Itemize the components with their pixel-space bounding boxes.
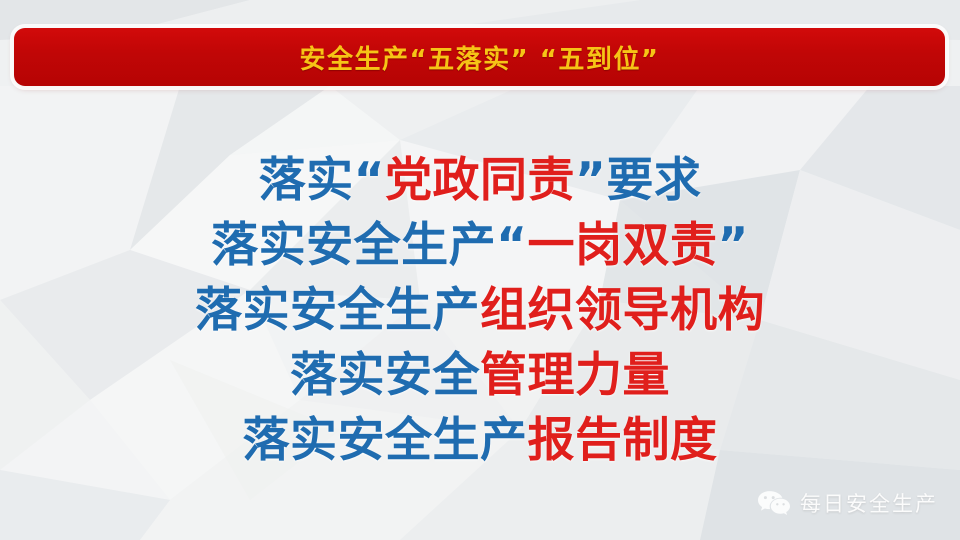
slogan-segment: 落实安全生产 [243, 413, 528, 468]
slogan-line-4: 落实安全管理力量 [0, 343, 960, 408]
slogan-segment: ”要求 [575, 153, 701, 208]
header-banner: 安全生产“五落实” “五到位” [14, 28, 945, 86]
slogan-segment-highlight: 党政同责 [385, 153, 575, 208]
wechat-icon [757, 490, 791, 517]
banner-title: 安全生产“五落实” “五到位” [300, 39, 660, 76]
slogan-line-1: 落实“党政同责”要求 [0, 148, 960, 213]
slogan-segment-highlight: 一岗双责 [528, 218, 718, 273]
slide-canvas: 安全生产“五落实” “五到位” 落实“党政同责”要求 落实安全生产“一岗双责” … [0, 0, 960, 540]
slogan-segment-highlight: 报告制度 [528, 413, 718, 468]
slogan-segment: ” [718, 218, 749, 273]
watermark: 每日安全生产 [757, 488, 938, 518]
watermark-label: 每日安全生产 [800, 488, 938, 518]
slogan-segment-highlight: 组织领导机构 [480, 283, 765, 338]
slogan-line-3: 落实安全生产组织领导机构 [0, 278, 960, 343]
slogan-segment: 落实安全生产“ [211, 218, 527, 273]
slogan-list: 落实“党政同责”要求 落实安全生产“一岗双责” 落实安全生产组织领导机构 落实安… [0, 148, 960, 473]
slogan-line-5: 落实安全生产报告制度 [0, 408, 960, 473]
slogan-segment: 落实“ [259, 153, 385, 208]
slogan-segment-highlight: 管理力量 [480, 348, 670, 403]
slogan-segment: 落实安全 [290, 348, 480, 403]
slogan-segment: 落实安全生产 [195, 283, 480, 338]
slogan-line-2: 落实安全生产“一岗双责” [0, 213, 960, 278]
